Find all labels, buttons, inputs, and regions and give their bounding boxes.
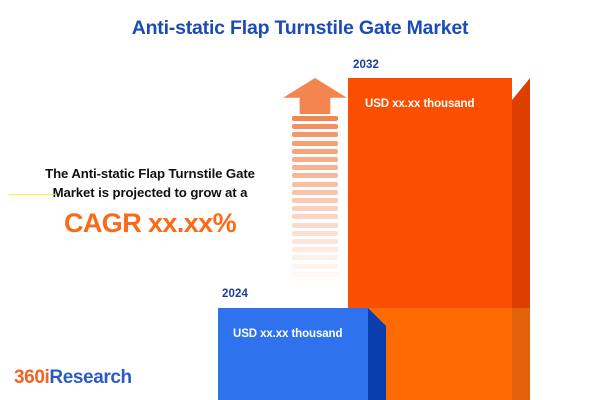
bar-2032-side-lower <box>512 308 530 400</box>
bar-value-2032: USD xx.xx thousand <box>365 98 474 110</box>
bar-label-2032: 2032 <box>353 59 379 71</box>
infographic-canvas: Anti-static Flap Turnstile Gate Market T… <box>0 0 600 400</box>
bar-value-2024: USD xx.xx thousand <box>233 328 342 340</box>
logo-prefix: 360i <box>14 367 49 388</box>
brand-logo: 360iResearch <box>14 367 132 389</box>
logo-suffix: Research <box>49 367 131 388</box>
bar-2024-front <box>218 308 368 400</box>
bar-label-2024: 2024 <box>222 288 248 300</box>
bar-chart: 2032 2024 USD xx.xx thousand USD xx.xx t… <box>0 0 600 400</box>
